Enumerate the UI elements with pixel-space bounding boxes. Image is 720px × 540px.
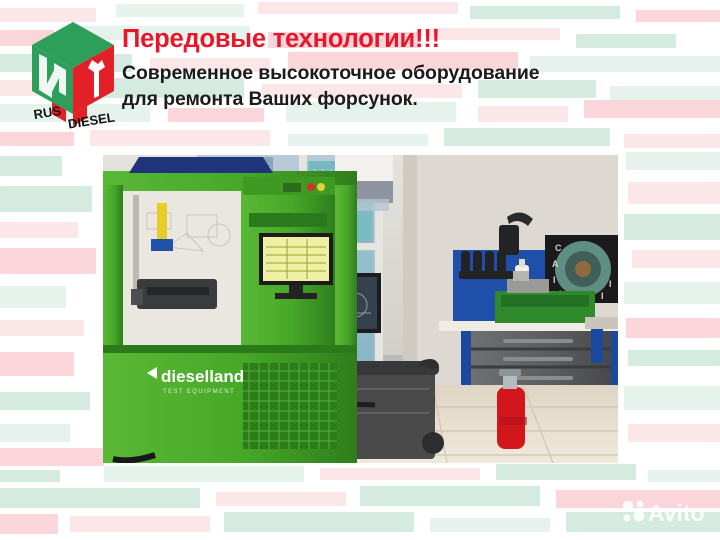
logo-text-rus: RUS xyxy=(33,103,63,122)
background-bar xyxy=(0,222,78,238)
background-bar xyxy=(216,492,346,506)
subtitle-line-1: Современное высокоточное оборудование xyxy=(122,60,702,87)
background-bar xyxy=(224,512,414,532)
background-bar xyxy=(0,186,92,212)
background-bar xyxy=(0,470,60,482)
background-bar xyxy=(70,516,210,532)
svg-text:I: I xyxy=(601,291,604,301)
background-bar xyxy=(320,468,480,480)
background-bar xyxy=(624,386,720,410)
svg-text:I: I xyxy=(553,275,556,285)
background-bar xyxy=(628,350,720,366)
background-bar xyxy=(0,156,62,176)
background-bar xyxy=(0,320,84,336)
background-bar xyxy=(0,514,58,534)
subtitle-block: Современное высокоточное оборудование дл… xyxy=(122,60,702,114)
svg-text:TEST EQUIPMENT: TEST EQUIPMENT xyxy=(163,389,235,395)
background-bar xyxy=(0,248,96,274)
svg-text:I: I xyxy=(609,279,612,289)
background-bar xyxy=(648,470,720,482)
background-bar xyxy=(632,250,720,268)
background-bar xyxy=(0,448,104,466)
background-bar xyxy=(496,464,636,480)
avito-wordmark: Avito xyxy=(648,500,705,526)
background-bar xyxy=(104,466,304,482)
headline-block: Передовые технологии!!! Современное высо… xyxy=(122,26,702,113)
page-title: Передовые технологии!!! xyxy=(122,26,702,54)
rus-diesel-logo: RUS DIESEL xyxy=(26,18,122,130)
background-bar xyxy=(0,352,74,376)
header: RUS DIESEL Передовые технологии!!! Совре… xyxy=(0,0,720,150)
background-bar xyxy=(0,392,90,410)
svg-text:C: C xyxy=(555,243,562,253)
avito-watermark: Avito xyxy=(620,498,712,526)
advertisement-image: RUS DIESEL Передовые технологии!!! Совре… xyxy=(0,0,720,540)
workshop-photo: CA II II xyxy=(103,155,618,463)
background-bar xyxy=(0,424,70,442)
svg-text:A: A xyxy=(552,259,559,269)
background-bar xyxy=(430,518,550,532)
background-bar xyxy=(0,286,66,308)
background-bar xyxy=(360,486,540,506)
background-bar xyxy=(626,318,720,338)
machine-brand-label: dieselland xyxy=(161,367,244,386)
background-bar xyxy=(0,488,200,508)
background-bar xyxy=(624,214,720,240)
background-bar xyxy=(624,282,720,304)
background-bar xyxy=(628,182,720,204)
background-bar xyxy=(628,424,720,442)
background-bar xyxy=(626,152,720,170)
subtitle-line-2: для ремонта Ваших форсунок. xyxy=(122,86,702,113)
